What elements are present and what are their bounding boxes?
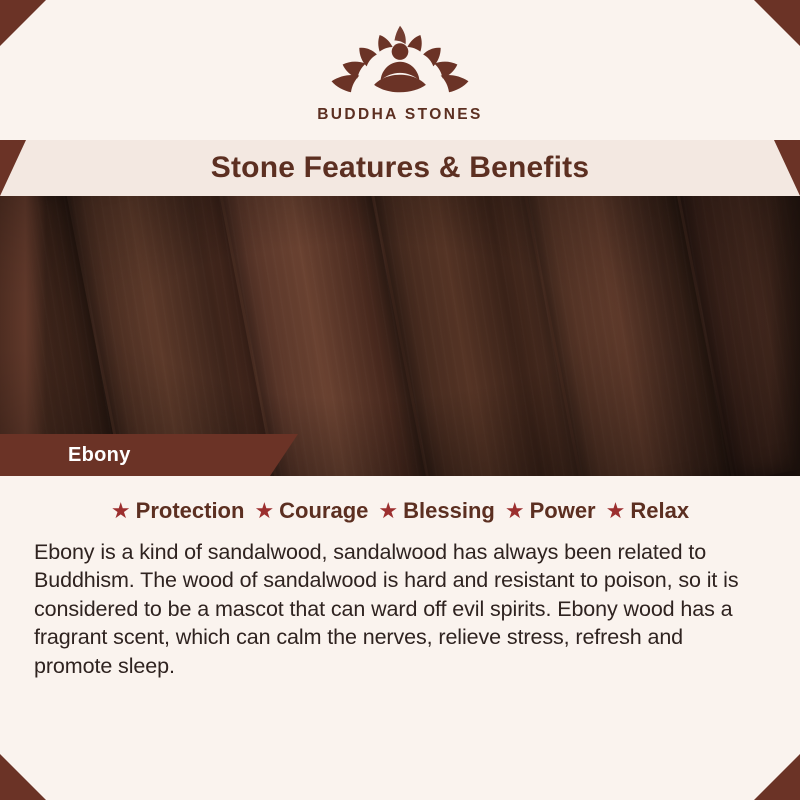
benefit-label: Protection <box>136 498 245 524</box>
benefit-label: Relax <box>630 498 689 524</box>
infographic-page: BUDDHA STONES Stone Features & Benefits … <box>0 0 800 800</box>
star-icon: ★ <box>254 500 274 522</box>
lotus-meditation-figure-icon <box>326 16 474 102</box>
corner-decoration-top-right <box>754 0 800 46</box>
star-icon: ★ <box>505 500 525 522</box>
brand-name: BUDDHA STONES <box>317 106 483 124</box>
corner-decoration-bottom-right <box>754 754 800 800</box>
title-band: Stone Features & Benefits <box>0 140 800 196</box>
benefit-label: Courage <box>279 498 368 524</box>
star-icon: ★ <box>606 500 626 522</box>
page-title: Stone Features & Benefits <box>211 151 589 185</box>
stone-name-label: Ebony <box>68 444 131 467</box>
benefit-item-courage: ★ Courage <box>254 498 368 524</box>
benefit-item-power: ★ Power <box>505 498 596 524</box>
star-icon: ★ <box>111 500 131 522</box>
corner-decoration-top-left <box>0 0 46 46</box>
stone-name-ribbon: Ebony <box>0 434 270 476</box>
benefit-label: Power <box>530 498 596 524</box>
brand-header: BUDDHA STONES <box>0 0 800 140</box>
star-icon: ★ <box>378 500 398 522</box>
description-text: Ebony is a kind of sandalwood, sandalwoo… <box>34 538 766 680</box>
benefits-row: ★ Protection ★ Courage ★ Blessing ★ Powe… <box>34 498 766 524</box>
corner-decoration-bottom-left <box>0 754 46 800</box>
product-photo: Ebony <box>0 196 800 476</box>
benefit-label: Blessing <box>403 498 495 524</box>
content-section: ★ Protection ★ Courage ★ Blessing ★ Powe… <box>0 476 800 680</box>
benefit-item-relax: ★ Relax <box>606 498 689 524</box>
benefit-item-blessing: ★ Blessing <box>378 498 494 524</box>
benefit-item-protection: ★ Protection <box>111 498 245 524</box>
